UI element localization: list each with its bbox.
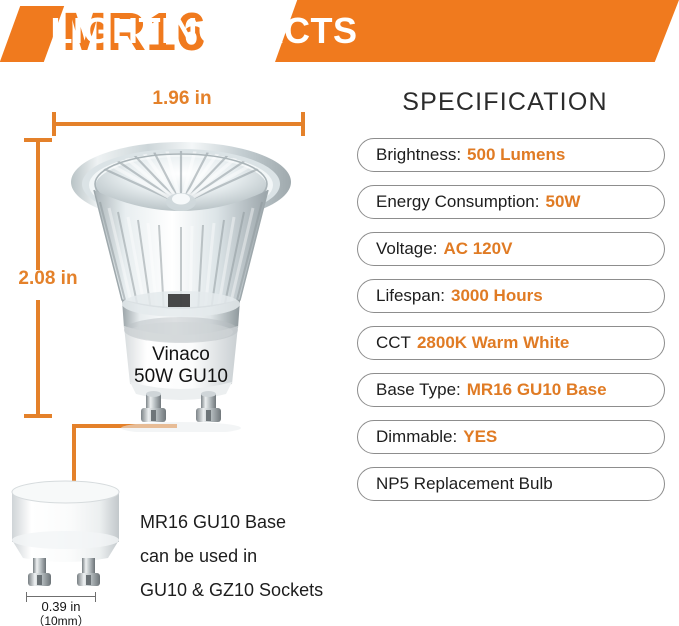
spec-pill: Base Type:MR16 GU10 Base xyxy=(357,373,665,407)
spec-pill: Lifespan:3000 Hours xyxy=(357,279,665,313)
spec-pill: Energy Consumption:50W xyxy=(357,185,665,219)
infographic-page: MR16 LIGHTING FACTS 1.96 in 2.08 in xyxy=(0,0,679,626)
pin-spacing-mm: （10mm） xyxy=(6,614,116,626)
spec-label: Base Type: xyxy=(376,380,461,400)
spec-value: AC 120V xyxy=(443,239,512,259)
spec-pill: NP5 Replacement Bulb xyxy=(357,467,665,501)
base-caption-line-1: MR16 GU10 Base xyxy=(140,505,370,539)
bulb-brand-label: Vinaco xyxy=(152,344,210,365)
spec-label: CCT xyxy=(376,333,411,353)
spec-value: 50W xyxy=(545,192,580,212)
base-caption: MR16 GU10 Base can be used in GU10 & GZ1… xyxy=(140,505,370,607)
spec-pill: CCT2800K Warm White xyxy=(357,326,665,360)
pin-bracket-line xyxy=(26,596,96,597)
spec-pill: Voltage:AC 120V xyxy=(357,232,665,266)
specification-heading: SPECIFICATION xyxy=(350,88,660,117)
mr16-bulb-illustration: Vinaco 50W GU10 xyxy=(56,132,306,432)
specification-list: Brightness:500 LumensEnergy Consumption:… xyxy=(357,138,667,514)
spec-label: Dimmable: xyxy=(376,427,457,447)
spec-label: Brightness: xyxy=(376,145,461,165)
height-dimension-cap-top xyxy=(24,138,52,142)
lighting-facts-title: LIGHTING FACTS xyxy=(0,0,404,62)
base-pin-right xyxy=(77,558,100,586)
spec-label: Energy Consumption: xyxy=(376,192,539,212)
spec-label: Lifespan: xyxy=(376,286,445,306)
header-banner: MR16 LIGHTING FACTS xyxy=(0,0,679,68)
spec-value: MR16 GU10 Base xyxy=(467,380,607,400)
width-dimension-line xyxy=(52,122,305,126)
base-caption-line-3: GU10 & GZ10 Sockets xyxy=(140,573,370,607)
spec-pill: Brightness:500 Lumens xyxy=(357,138,665,172)
height-dimension-cap-bottom xyxy=(24,414,52,418)
spec-value: 500 Lumens xyxy=(467,145,565,165)
height-dimension-line-lower xyxy=(36,300,40,418)
spec-pill: Dimmable:YES xyxy=(357,420,665,454)
spec-value: YES xyxy=(463,427,497,447)
spec-label: Voltage: xyxy=(376,239,437,259)
spec-label: NP5 Replacement Bulb xyxy=(376,474,553,494)
pin-spacing-label: 0.39 in （10mm） xyxy=(6,600,116,626)
spec-value: 3000 Hours xyxy=(451,286,543,306)
height-dimension-line-upper xyxy=(36,140,40,270)
pin-spacing-inches: 0.39 in xyxy=(41,599,80,614)
base-caption-line-2: can be used in xyxy=(140,539,370,573)
spec-value: 2800K Warm White xyxy=(417,333,569,353)
base-pin-left xyxy=(28,558,51,586)
width-dimension-label: 1.96 in xyxy=(112,88,252,110)
gu10-base-illustration xyxy=(4,470,134,590)
bulb-rating-label: 50W GU10 xyxy=(134,366,228,387)
